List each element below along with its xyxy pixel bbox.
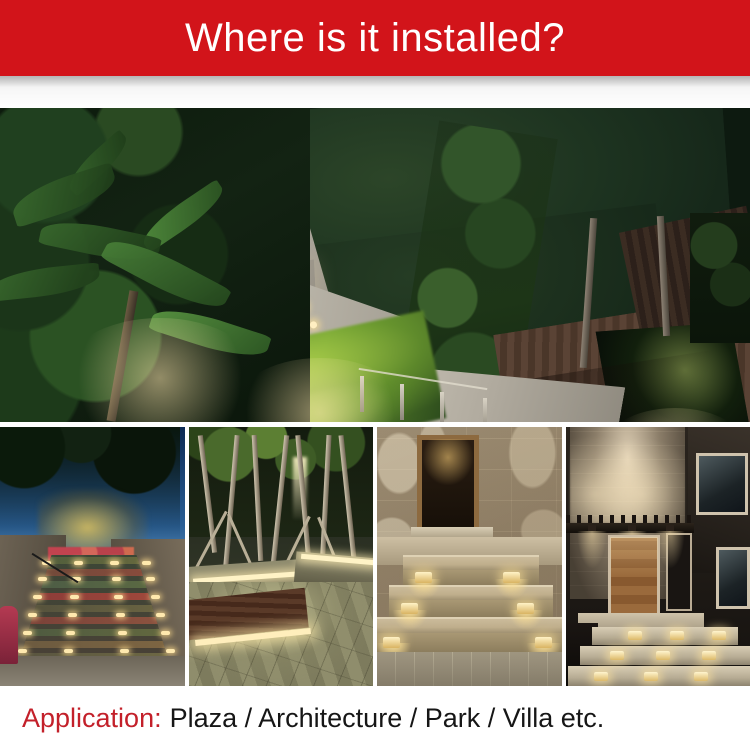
application-value: Plaza / Architecture / Park / Villa etc. <box>170 703 605 734</box>
window-glass <box>696 453 748 515</box>
thumbnail-plaza-staircase <box>0 427 185 686</box>
tree-right <box>690 213 750 343</box>
downlight-beam <box>577 531 607 569</box>
railing-post <box>360 376 364 412</box>
product-infographic-page: Where is it installed? <box>0 0 750 750</box>
recessed-step-light <box>517 603 534 614</box>
step-light-array <box>18 555 170 667</box>
window-glass <box>716 547 750 609</box>
thumbnail-modern-villa-entrance <box>566 427 750 686</box>
wall-wash-light <box>570 427 685 523</box>
page-title: Where is it installed? <box>185 18 565 58</box>
recessed-step-light <box>415 572 432 583</box>
pedestrian <box>0 606 18 664</box>
footer-application-line: Application: Plaza / Architecture / Park… <box>0 686 750 750</box>
railing-post <box>400 384 404 420</box>
application-label: Application: <box>22 703 162 734</box>
recessed-step-light <box>503 572 520 583</box>
hero-image <box>0 108 750 422</box>
recessed-step-light <box>401 603 418 614</box>
granite-step <box>403 555 539 571</box>
banner-drop-shadow <box>0 76 750 87</box>
lit-step-group <box>566 627 750 686</box>
thumbnail-park-benches <box>189 427 374 686</box>
railing-post <box>483 398 487 422</box>
thumbnail-villa-granite-steps <box>377 427 562 686</box>
application-text: Application: Plaza / Architecture / Park… <box>22 703 604 734</box>
door-highlight <box>610 537 658 577</box>
plaza-paving <box>0 656 185 686</box>
ground-paving <box>377 652 562 686</box>
application-thumbnail-row <box>0 427 750 686</box>
recessed-step-light <box>383 637 400 648</box>
hero-scene <box>0 108 750 422</box>
recessed-step-light <box>535 637 552 648</box>
railing-post <box>440 392 444 422</box>
door-interior-glow <box>423 439 473 485</box>
header-banner: Where is it installed? <box>0 0 750 76</box>
